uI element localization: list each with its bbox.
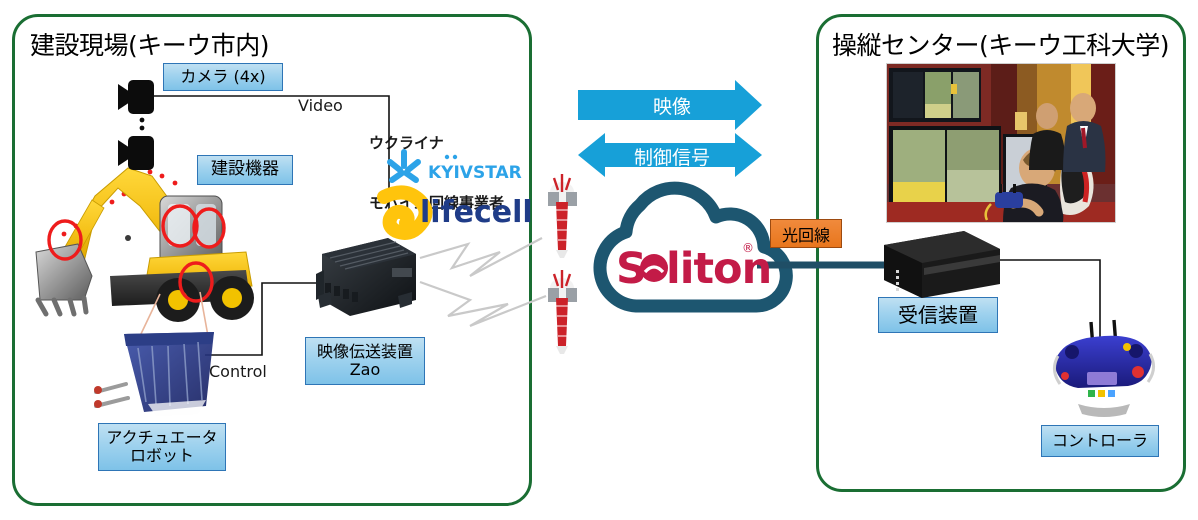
radio-tower-icon <box>548 174 577 354</box>
excavator-icon <box>36 168 254 322</box>
rc-controller-icon <box>1054 320 1153 417</box>
receiver-box-icon <box>884 231 1000 298</box>
label-fiber-line: 光回線 <box>770 219 842 248</box>
control-arrow <box>578 133 762 177</box>
zao-transmitter-icon <box>316 238 416 316</box>
diagram-background-layer <box>0 0 1198 520</box>
diagram-canvas: 建設現場(キーウ市内) 操縦センター(キーウ工科大学) KYIVSTAR <box>0 0 1198 520</box>
soliton-cloud-icon <box>600 188 786 306</box>
lightning-link-icon <box>420 238 546 326</box>
label-fiber-text: 光回線 <box>782 222 830 246</box>
video-arrow <box>578 80 762 130</box>
receiver-controller-line <box>1000 260 1100 338</box>
